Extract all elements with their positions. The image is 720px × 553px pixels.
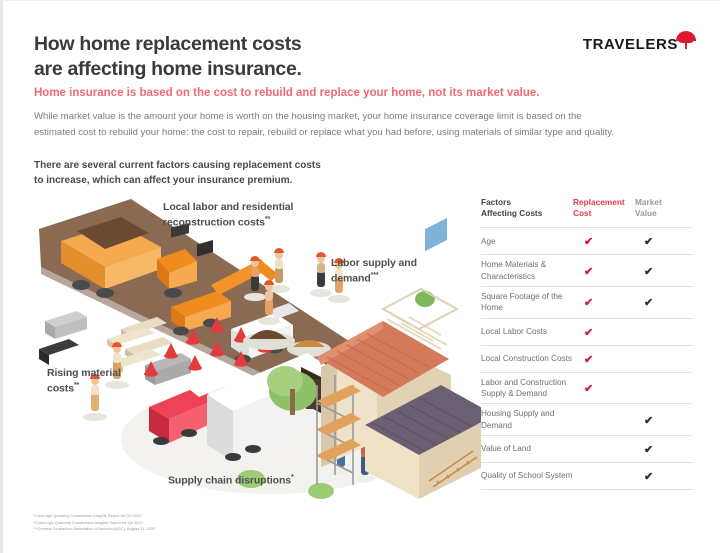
page-title: How home replacement costs are affecting… xyxy=(34,32,454,82)
travelers-logo: TRAVELERS xyxy=(583,37,698,52)
table-row: Value of Land✔✔ xyxy=(481,435,693,462)
footnotes: *CoreLogic Quarterly Construction Insigh… xyxy=(33,513,363,533)
factor-name: Age xyxy=(481,236,573,247)
table-header-row: Factors Affecting Costs Replacement Cost… xyxy=(481,197,693,227)
check-icon: ✔ xyxy=(644,415,653,427)
infographic-page: How home replacement costs are affecting… xyxy=(0,0,720,553)
replacement-cost-cell: ✔ xyxy=(573,350,635,368)
check-icon: ✔ xyxy=(584,297,593,309)
intro-lead-line2: to increase, which can affect your insur… xyxy=(34,173,394,188)
check-icon: ✔ xyxy=(584,354,593,366)
footnote-3: ***General Contractors Association of Am… xyxy=(33,526,363,533)
logo-wordmark: TRAVELERS xyxy=(583,37,678,52)
intro-body: While market value is the amount your ho… xyxy=(34,109,619,140)
replacement-cost-cell: ✔ xyxy=(573,232,635,250)
table-row: Local Construction Costs✔✔ xyxy=(481,345,693,372)
check-icon: ✔ xyxy=(644,297,653,309)
footnote-1: *CoreLogic Quarterly Construction Insigh… xyxy=(33,513,363,520)
factor-name: Square Footage of the Home xyxy=(481,291,573,314)
replacement-cost-cell: ✔ xyxy=(573,467,635,485)
column-header-market-value: Market Value xyxy=(635,197,693,219)
factor-name: Housing Supply and Demand xyxy=(481,408,573,431)
replacement-cost-cell: ✔ xyxy=(573,323,635,341)
check-icon: ✔ xyxy=(584,383,593,395)
factor-name: Local Labor Costs xyxy=(481,326,573,337)
check-icon: ✔ xyxy=(644,236,653,248)
replacement-cost-cell: ✔ xyxy=(573,379,635,397)
table-body: Age✔✔Home Materials & Characteristics✔✔S… xyxy=(481,227,693,490)
table-row: Age✔✔ xyxy=(481,227,693,254)
footnote-marker: ** xyxy=(265,216,270,223)
label-local-labor: Local labor and residential reconstructi… xyxy=(163,201,323,230)
replacement-cost-cell: ✔ xyxy=(573,293,635,311)
table-row: Local Labor Costs✔✔ xyxy=(481,318,693,345)
market-value-cell: ✔ xyxy=(635,440,693,458)
page-title-line1: How home replacement costs xyxy=(34,32,454,57)
market-value-cell: ✔ xyxy=(635,262,693,280)
footnote-marker: * xyxy=(291,474,294,481)
factor-name: Value of Land xyxy=(481,443,573,454)
check-icon: ✔ xyxy=(584,327,593,339)
footnote-marker: *** xyxy=(371,272,379,279)
table-row: Quality of School System✔✔ xyxy=(481,462,693,490)
label-rising-material: Rising material costs** xyxy=(47,367,137,396)
market-value-cell: ✔ xyxy=(635,232,693,250)
market-value-cell: ✔ xyxy=(635,323,693,341)
check-icon: ✔ xyxy=(644,444,653,456)
table-row: Square Footage of the Home✔✔ xyxy=(481,286,693,318)
factor-name: Quality of School System xyxy=(481,470,573,481)
check-icon: ✔ xyxy=(584,266,593,278)
footnote-marker: ** xyxy=(74,382,79,389)
replacement-cost-cell: ✔ xyxy=(573,411,635,429)
table-row: Housing Supply and Demand✔✔ xyxy=(481,403,693,435)
scene-svg xyxy=(21,189,481,509)
label-supply-chain: Supply chain disruptions* xyxy=(168,473,318,488)
page-title-line2: are affecting home insurance. xyxy=(34,57,454,82)
factor-name: Labor and Construction Supply & Demand xyxy=(481,377,573,400)
market-value-cell: ✔ xyxy=(635,350,693,368)
check-icon: ✔ xyxy=(644,471,653,483)
column-header-replacement-cost: Replacement Cost xyxy=(573,197,635,219)
check-icon: ✔ xyxy=(584,236,593,248)
intro-lead: There are several current factors causin… xyxy=(34,158,394,188)
factors-comparison-table: Factors Affecting Costs Replacement Cost… xyxy=(481,197,693,490)
intro-highlight: Home insurance is based on the cost to r… xyxy=(34,86,594,101)
market-value-cell: ✔ xyxy=(635,411,693,429)
market-value-cell: ✔ xyxy=(635,467,693,485)
factor-name: Home Materials & Characteristics xyxy=(481,259,573,282)
intro-lead-line1: There are several current factors causin… xyxy=(34,158,394,173)
check-icon: ✔ xyxy=(644,266,653,278)
replacement-cost-cell: ✔ xyxy=(573,262,635,280)
red-umbrella-icon xyxy=(676,31,698,49)
market-value-cell: ✔ xyxy=(635,293,693,311)
table-row: Labor and Construction Supply & Demand✔✔ xyxy=(481,372,693,404)
market-value-cell: ✔ xyxy=(635,379,693,397)
footnote-2: **CoreLogic Quarterly Construction Insig… xyxy=(33,520,363,527)
factor-name: Local Construction Costs xyxy=(481,353,573,364)
replacement-cost-cell: ✔ xyxy=(573,440,635,458)
label-labor-supply: Labor supply and demand*** xyxy=(331,257,451,286)
construction-scene-illustration xyxy=(21,189,481,509)
table-row: Home Materials & Characteristics✔✔ xyxy=(481,254,693,286)
column-header-factors: Factors Affecting Costs xyxy=(481,197,573,219)
